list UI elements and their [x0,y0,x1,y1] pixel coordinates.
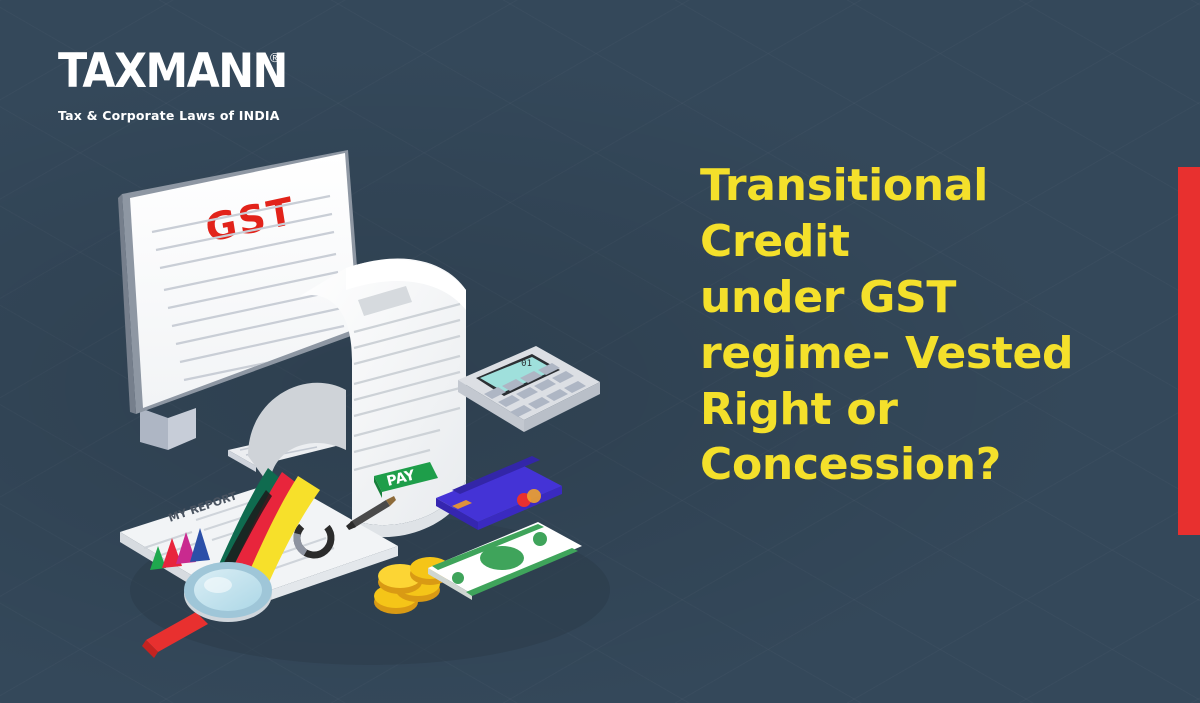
calculator: 01 [458,346,600,432]
logo-wordmark: TAXMANN [58,48,287,95]
logo-tagline: Tax & Corporate Laws of INDIA [58,108,298,123]
poster-canvas: TAXMANN ® Tax & Corporate Laws of INDIA … [0,0,1200,703]
title-line-5: Right or [700,382,1170,438]
gst-isometric-illustration: GST [100,150,670,680]
title-line-4: regime- Vested [700,326,1170,382]
title-line-1: Transitional [700,158,1170,214]
page-title: Transitional Credit under GST regime- Ve… [700,158,1170,493]
red-accent-bar [1178,167,1200,535]
title-line-6: Concession? [700,437,1170,493]
registered-trademark-icon: ® [270,50,280,65]
taxmann-logo[interactable]: TAXMANN ® Tax & Corporate Laws of INDIA [58,48,298,123]
calculator-display-value: 01 [521,359,532,369]
title-line-2: Credit [700,214,1170,270]
title-line-3: under GST [700,270,1170,326]
